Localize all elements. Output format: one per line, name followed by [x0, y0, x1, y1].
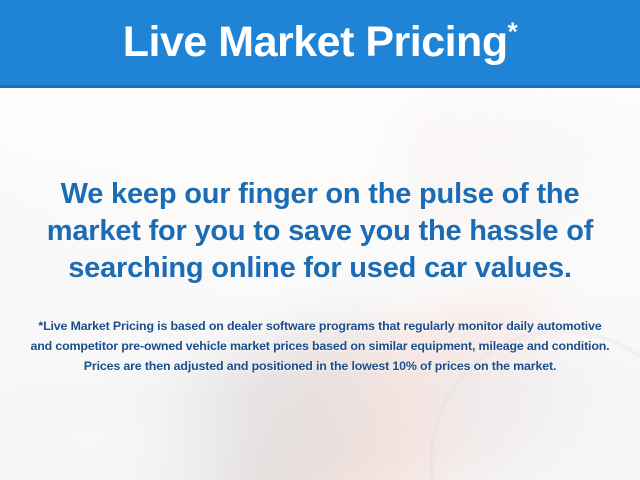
page-title: Live Market Pricing* [123, 21, 517, 67]
background-window-glare-shape [430, 360, 640, 480]
headline-text: We keep our finger on the pulse of the m… [0, 176, 640, 287]
background-orange-panel-shape [184, 281, 596, 480]
disclaimer-text: *Live Market Pricing is based on dealer … [0, 316, 640, 376]
page-title-text: Live Market Pricing [123, 18, 508, 66]
page-title-asterisk: * [508, 17, 518, 47]
background-lower-left-shape [0, 380, 230, 480]
header-bar: Live Market Pricing* [0, 0, 640, 88]
live-market-pricing-banner: Live Market Pricing* We keep our finger … [0, 0, 640, 480]
